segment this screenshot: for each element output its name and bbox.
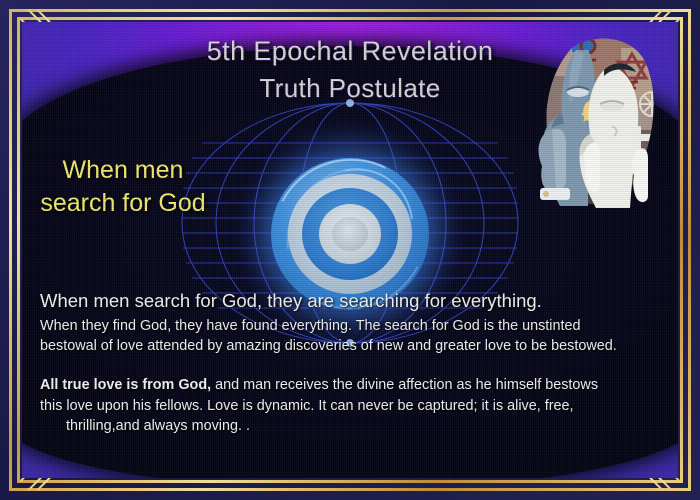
body-copy: When men search for God, they are search… bbox=[40, 290, 664, 437]
paragraph-one-line-a: When they find God, they have found ever… bbox=[40, 318, 581, 334]
paragraph-one: When they find God, they have found ever… bbox=[40, 316, 664, 357]
lead-sentence: When men search for God, they are search… bbox=[40, 290, 664, 313]
paragraph-two-bold: All true love is from God, bbox=[40, 377, 211, 393]
paragraph-two-line-c: thrilling,and always moving. . bbox=[66, 418, 250, 434]
poster-canvas: 5th Epochal Revelation Truth Postulate W… bbox=[0, 0, 700, 500]
paragraph-one-line-b: bestowal of love attended by amazing dis… bbox=[40, 338, 617, 354]
paragraph-two: All true love is from God, and man recei… bbox=[40, 375, 664, 436]
paragraph-two-line-b: this love upon his fellows. Love is dyna… bbox=[40, 398, 574, 414]
purple-panel: 5th Epochal Revelation Truth Postulate W… bbox=[22, 22, 678, 478]
interfaith-collage bbox=[526, 30, 666, 220]
dharma-wheel-icon bbox=[640, 92, 664, 116]
praying-hands-blue bbox=[539, 129, 570, 200]
praying-hands-white-right bbox=[632, 148, 648, 202]
callout-text: When men search for God bbox=[38, 154, 208, 220]
paragraph-two-line-a: and man receives the divine affection as… bbox=[211, 377, 598, 393]
